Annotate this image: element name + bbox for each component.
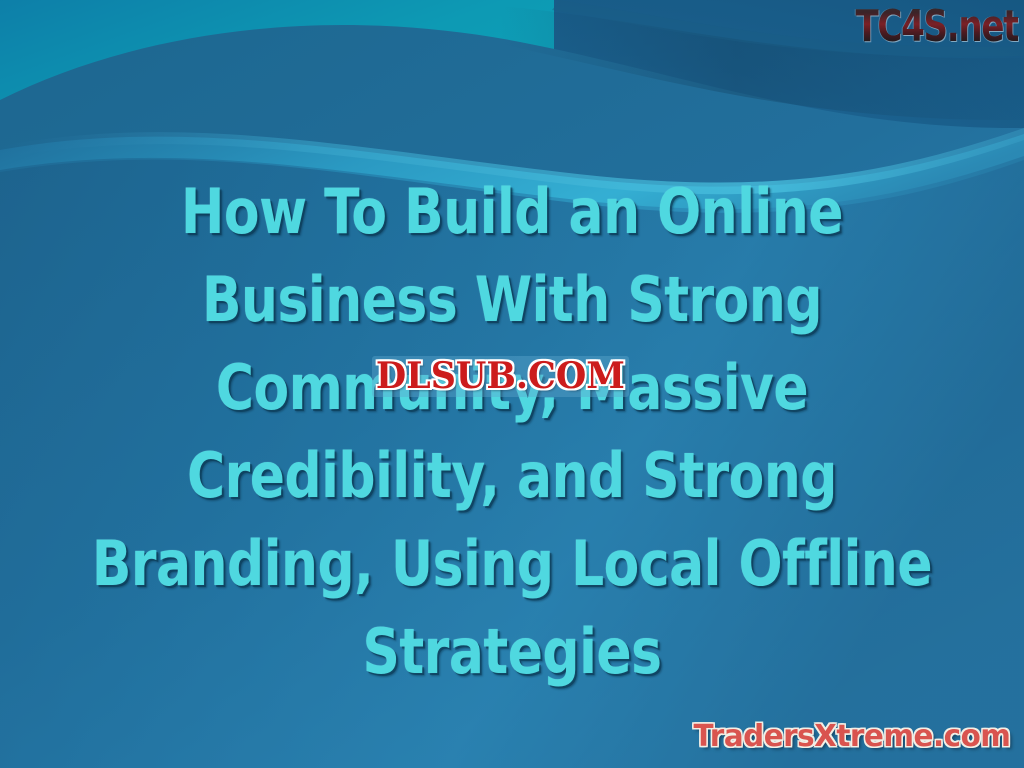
watermark-dlsub: DLSUB.COM xyxy=(372,356,629,397)
presentation-slide: How To Build an Online Business With Str… xyxy=(0,0,1024,768)
wave-shape-body xyxy=(0,156,1024,768)
watermark-tc4s: TC4S.net xyxy=(855,2,1018,52)
watermark-tradersxtreme: TradersXtreme.com xyxy=(693,720,1010,754)
